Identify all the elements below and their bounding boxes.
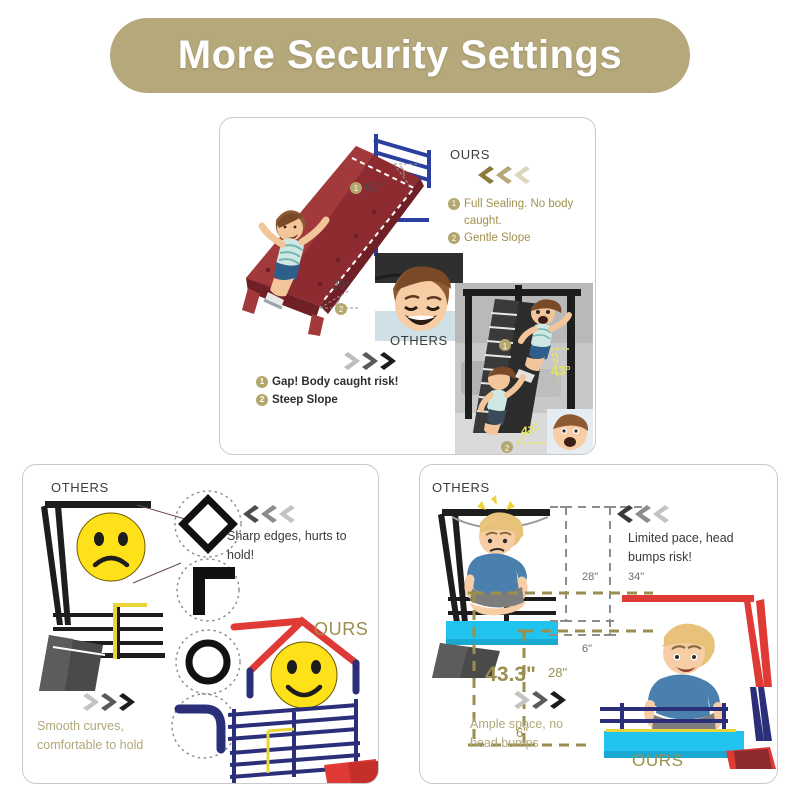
others-slide-photo: 43° 1 47° 2 xyxy=(455,283,593,455)
others-bullets: 1 Gap! Body caught risk! 2 Steep Slope xyxy=(256,374,466,408)
others-chevrons-right xyxy=(340,350,402,372)
ours-angle-1-value: 61° xyxy=(365,180,383,194)
others-bullet-1: 1 Gap! Body caught risk! xyxy=(256,374,466,391)
ours-angle-2: 29° 2 xyxy=(332,278,350,315)
ours-label: OURS xyxy=(450,146,490,164)
br-ours-label: OURS xyxy=(632,751,684,771)
panel-edge-shape-comparison: OTHERS xyxy=(22,464,379,784)
page-title-banner: More Security Settings xyxy=(110,18,690,93)
ours-chevrons-left xyxy=(476,164,538,186)
panel-slide-slope-comparison: 1 61° 29° 2 OURS 1 Full Sealing. xyxy=(219,117,596,455)
badge-2: 2 xyxy=(335,303,347,315)
others-bullet-2-text: Steep Slope xyxy=(272,392,338,409)
badge-2: 2 xyxy=(448,232,460,244)
others-bullet-1-text: Gap! Body caught risk! xyxy=(272,374,399,391)
bl-others-note: Sharp edges, hurts to hold! xyxy=(227,527,355,565)
br-ours-chevrons-right xyxy=(510,689,572,711)
ours-measure-43: 43.3" xyxy=(419,663,536,687)
br-others-note: Limited pace, head bumps risk! xyxy=(628,529,750,567)
others-angle-1-value: 43° xyxy=(551,363,571,378)
ours-measure-28: 28" xyxy=(548,665,567,680)
ours-bullet-2: 2 Gentle Slope xyxy=(448,230,588,247)
happy-child-inset xyxy=(375,253,463,341)
others-bullet-2: 2 Steep Slope xyxy=(256,392,466,409)
others-measure-28: 28" xyxy=(582,571,598,583)
bl-ours-label: OURS xyxy=(314,619,368,640)
br-others-chevrons-left xyxy=(615,503,677,525)
page-title: More Security Settings xyxy=(178,33,622,78)
badge-2: 2 xyxy=(256,394,268,406)
badge-1: 1 xyxy=(448,198,460,210)
others-measure-34: 34" xyxy=(628,571,644,583)
bl-ours-chevrons-right xyxy=(79,691,141,713)
ours-angle-1: 1 61° xyxy=(350,180,383,194)
ours-bullet-1-text: Full Sealing. No body caught. xyxy=(464,196,588,229)
svg-text:1: 1 xyxy=(503,342,508,351)
others-label: OTHERS xyxy=(390,332,448,350)
badge-1: 1 xyxy=(350,182,362,194)
others-angle-2-value: 47° xyxy=(521,424,539,438)
br-ours-note: Ample space, no head bumps xyxy=(470,715,590,753)
ours-bullet-1: 1 Full Sealing. No body caught. xyxy=(448,196,588,229)
bl-others-chevrons-left xyxy=(241,503,303,525)
ours-headroom-illustration xyxy=(600,591,778,769)
panel-headroom-comparison: OTHERS xyxy=(419,464,778,784)
ours-bullet-2-text: Gentle Slope xyxy=(464,230,531,247)
badge-1: 1 xyxy=(256,376,268,388)
ours-angle-2-value: 29° xyxy=(332,278,350,292)
ours-bullets: 1 Full Sealing. No body caught. 2 Gentle… xyxy=(448,196,588,247)
bl-ours-note: Smooth curves, comfortable to hold xyxy=(37,717,155,755)
svg-text:2: 2 xyxy=(505,444,510,453)
